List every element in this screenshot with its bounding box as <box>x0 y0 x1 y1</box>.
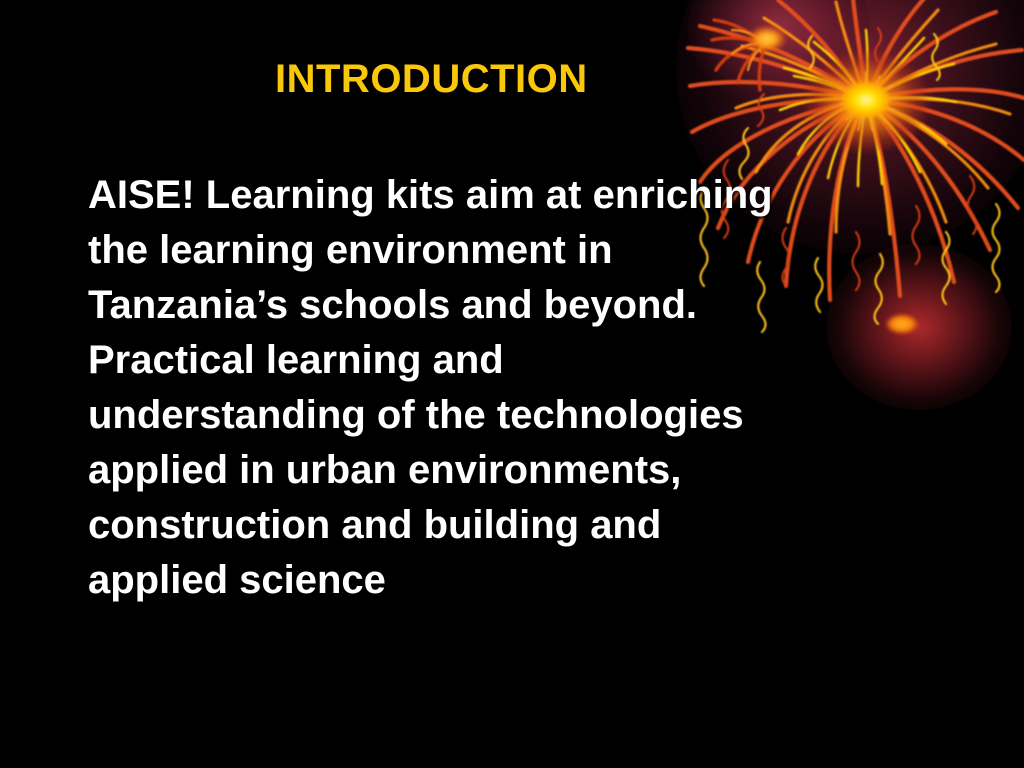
body-line: Tanzania’s schools and beyond. <box>88 278 1003 333</box>
presentation-slide: INTRODUCTION AISE! Learning kits aim at … <box>0 0 1024 768</box>
firework-core-outer-glow <box>806 52 928 152</box>
body-line: construction and building and <box>88 498 1003 553</box>
body-line: Practical learning and <box>88 333 1003 388</box>
slide-title: INTRODUCTION <box>275 57 588 102</box>
firework-secondary-halo-glow <box>688 0 870 106</box>
body-line: AISE! Learning kits aim at enriching <box>88 168 1003 223</box>
body-line: applied science <box>88 553 1003 608</box>
body-line: applied in urban environments, <box>88 443 1003 498</box>
firework-core-inner-glow <box>842 82 890 118</box>
firework-secondary-core-glow <box>748 26 786 52</box>
slide-body-text: AISE! Learning kits aim at enriching the… <box>88 168 1003 608</box>
body-line: the learning environment in <box>88 223 1003 278</box>
body-line: understanding of the technologies <box>88 388 1003 443</box>
